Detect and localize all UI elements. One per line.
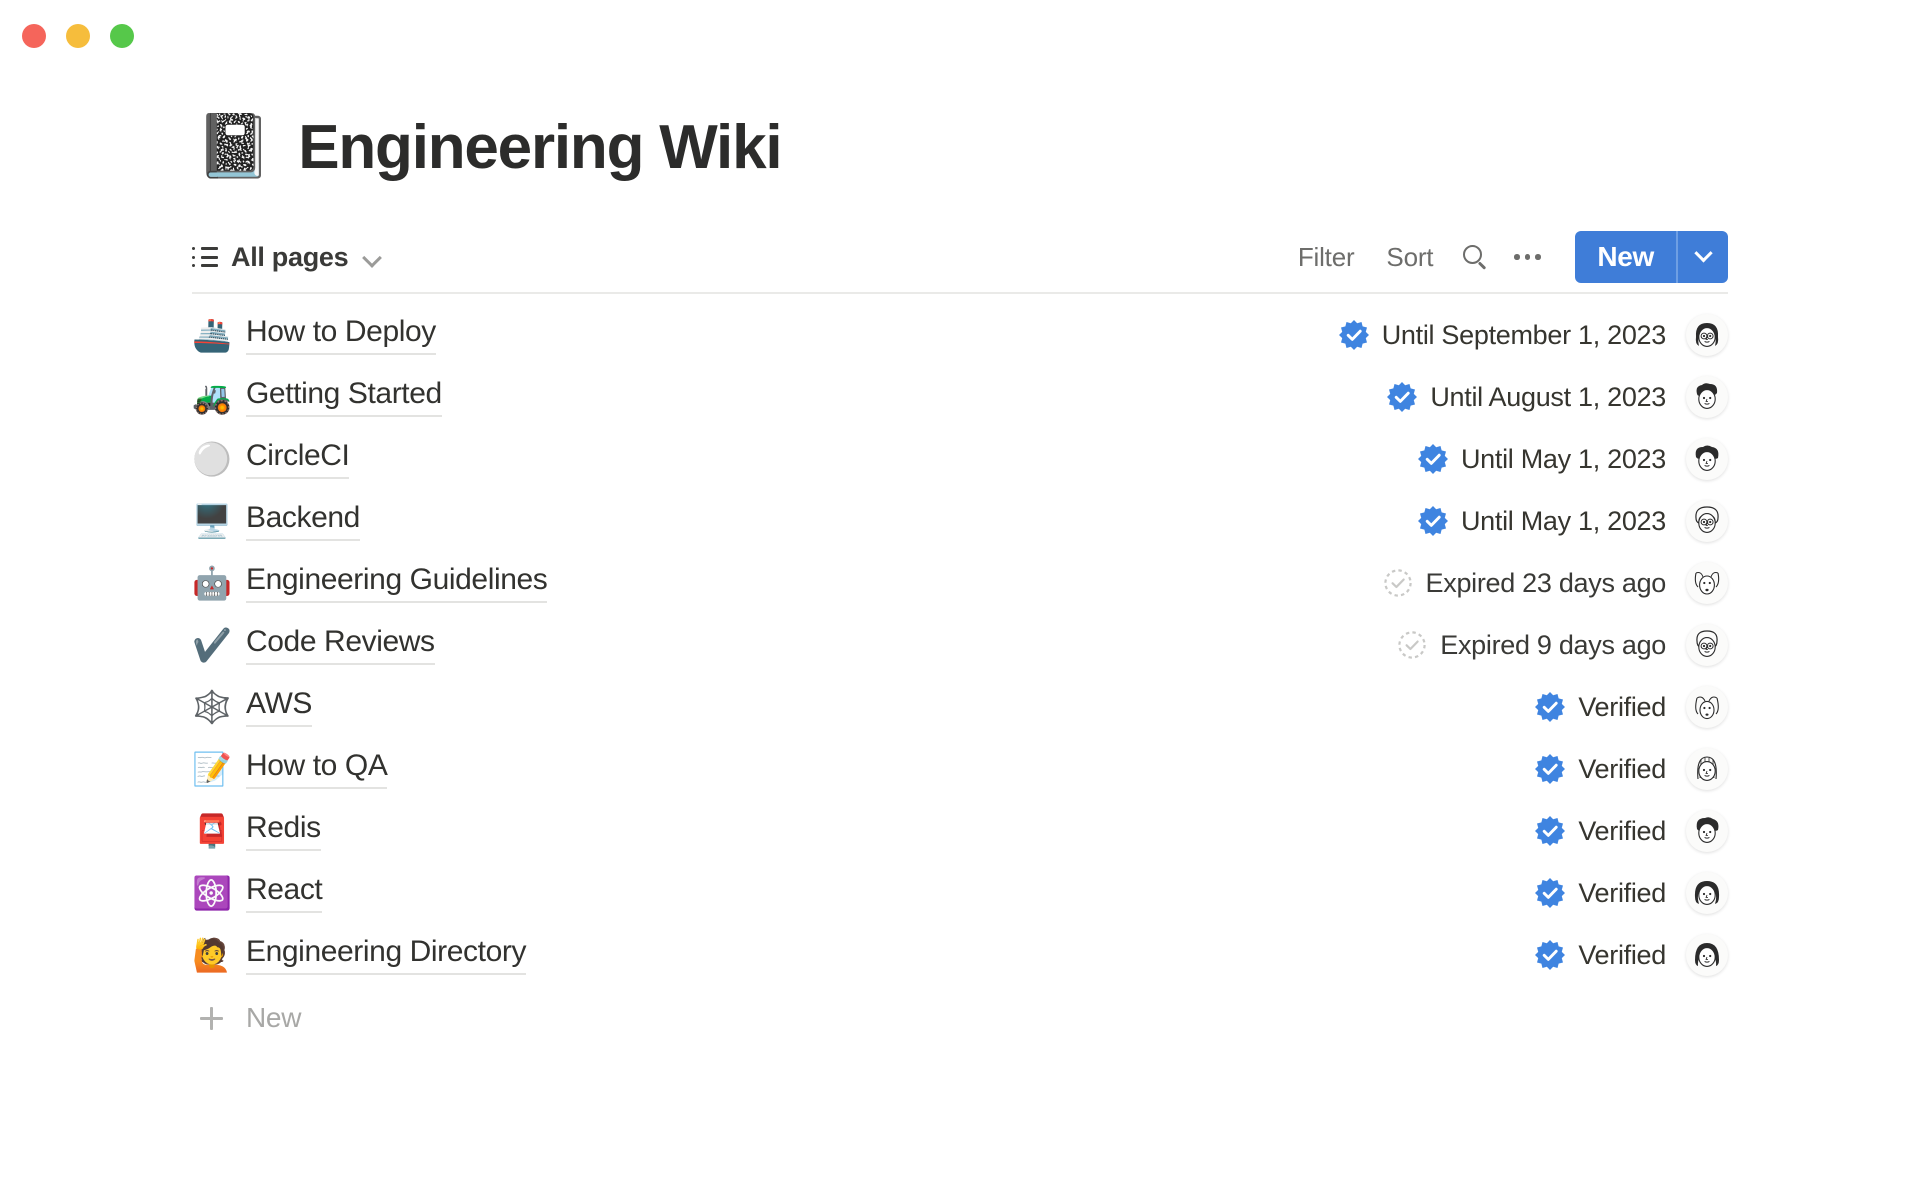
list-icon xyxy=(192,247,218,267)
table-row[interactable]: 🕸️AWSVerified xyxy=(192,676,1728,738)
row-main: 📮Redis xyxy=(192,811,1535,851)
row-meta: Verified xyxy=(1535,934,1728,976)
row-main: ⚛️React xyxy=(192,873,1535,913)
postbox-emoji[interactable]: 📮 xyxy=(192,815,230,847)
verified-badge-icon xyxy=(1339,320,1369,350)
add-new-page-row[interactable]: New xyxy=(192,986,1728,1044)
row-main: 🤖Engineering Guidelines xyxy=(192,563,1383,603)
row-meta: Until May 1, 2023 xyxy=(1418,438,1728,480)
expired-badge-icon xyxy=(1383,568,1413,598)
page-title: Engineering Wiki xyxy=(298,112,781,183)
verification-status[interactable]: Expired 23 days ago xyxy=(1383,568,1666,599)
raising-hand-emoji[interactable]: 🙋 xyxy=(192,939,230,971)
avatar[interactable] xyxy=(1686,810,1728,852)
new-dropdown-button[interactable] xyxy=(1676,231,1728,283)
app-window: 📓 Engineering Wiki All pages Filter Sort xyxy=(0,0,1920,1200)
row-main: 📝How to QA xyxy=(192,749,1535,789)
avatar[interactable] xyxy=(1686,872,1728,914)
page-link[interactable]: Engineering Directory xyxy=(246,935,526,975)
page-link[interactable]: React xyxy=(246,873,322,913)
row-meta: Until September 1, 2023 xyxy=(1339,314,1728,356)
verified-badge-icon xyxy=(1418,444,1448,474)
row-meta: Expired 23 days ago xyxy=(1383,562,1728,604)
maximize-button[interactable] xyxy=(110,24,134,48)
expired-badge-icon xyxy=(1397,630,1427,660)
chevron-down-icon xyxy=(364,249,381,266)
verification-status[interactable]: Expired 9 days ago xyxy=(1397,630,1666,661)
verification-status[interactable]: Until August 1, 2023 xyxy=(1387,382,1666,413)
verified-badge-icon xyxy=(1535,878,1565,908)
verification-status[interactable]: Verified xyxy=(1535,754,1666,785)
page-link[interactable]: Getting Started xyxy=(246,377,442,417)
page-link[interactable]: AWS xyxy=(246,687,312,727)
more-options-button[interactable] xyxy=(1501,235,1553,279)
status-label: Until August 1, 2023 xyxy=(1430,382,1666,413)
avatar[interactable] xyxy=(1686,376,1728,418)
table-row[interactable]: 📮RedisVerified xyxy=(192,800,1728,862)
table-row[interactable]: 📝How to QAVerified xyxy=(192,738,1728,800)
table-row[interactable]: 🖥️BackendUntil May 1, 2023 xyxy=(192,490,1728,552)
notebook-emoji[interactable]: 📓 xyxy=(195,116,272,178)
status-label: Until September 1, 2023 xyxy=(1382,320,1666,351)
row-meta: Until May 1, 2023 xyxy=(1418,500,1728,542)
new-button[interactable]: New xyxy=(1575,231,1676,283)
robot-emoji[interactable]: 🤖 xyxy=(192,567,230,599)
avatar[interactable] xyxy=(1686,624,1728,666)
database-toolbar: All pages Filter Sort New xyxy=(192,222,1728,294)
verification-status[interactable]: Until May 1, 2023 xyxy=(1418,506,1666,537)
row-meta: Verified xyxy=(1535,686,1728,728)
status-label: Expired 23 days ago xyxy=(1426,568,1666,599)
verification-status[interactable]: Verified xyxy=(1535,878,1666,909)
table-row[interactable]: 🤖Engineering GuidelinesExpired 23 days a… xyxy=(192,552,1728,614)
verification-status[interactable]: Verified xyxy=(1535,940,1666,971)
avatar[interactable] xyxy=(1686,562,1728,604)
add-new-page-label: New xyxy=(246,1002,301,1034)
page-link[interactable]: Engineering Guidelines xyxy=(246,563,547,603)
row-main: 🚜Getting Started xyxy=(192,377,1387,417)
sort-button[interactable]: Sort xyxy=(1370,242,1449,273)
verification-status[interactable]: Verified xyxy=(1535,692,1666,723)
row-main: ✔️Code Reviews xyxy=(192,625,1397,665)
close-button[interactable] xyxy=(22,24,46,48)
verification-status[interactable]: Until May 1, 2023 xyxy=(1418,444,1666,475)
row-meta: Expired 9 days ago xyxy=(1397,624,1728,666)
filter-button[interactable]: Filter xyxy=(1282,242,1371,273)
page-content: 📓 Engineering Wiki All pages Filter Sort xyxy=(0,72,1920,1044)
page-link[interactable]: Code Reviews xyxy=(246,625,435,665)
row-main: 🕸️AWS xyxy=(192,687,1535,727)
verified-badge-icon xyxy=(1387,382,1417,412)
search-icon xyxy=(1463,245,1487,269)
page-link[interactable]: Backend xyxy=(246,501,360,541)
row-main: 🖥️Backend xyxy=(192,501,1418,541)
row-main: ⚪CircleCI xyxy=(192,439,1418,479)
verified-badge-icon xyxy=(1535,754,1565,784)
status-label: Until May 1, 2023 xyxy=(1461,444,1666,475)
memo-emoji[interactable]: 📝 xyxy=(192,753,230,785)
status-label: Verified xyxy=(1578,878,1666,909)
page-link[interactable]: CircleCI xyxy=(246,439,349,479)
verified-badge-icon xyxy=(1535,940,1565,970)
spider-web-emoji[interactable]: 🕸️ xyxy=(192,691,230,723)
ship-emoji[interactable]: 🚢 xyxy=(192,319,230,351)
avatar[interactable] xyxy=(1686,500,1728,542)
status-label: Verified xyxy=(1578,692,1666,723)
table-row[interactable]: ⚛️ReactVerified xyxy=(192,862,1728,924)
verified-badge-icon xyxy=(1535,816,1565,846)
table-row[interactable]: 🙋Engineering DirectoryVerified xyxy=(192,924,1728,986)
page-link[interactable]: How to QA xyxy=(246,749,387,789)
view-selector-all-pages[interactable]: All pages xyxy=(192,242,381,273)
page-link[interactable]: Redis xyxy=(246,811,321,851)
avatar[interactable] xyxy=(1686,934,1728,976)
table-row[interactable]: ⚪CircleCIUntil May 1, 2023 xyxy=(192,428,1728,490)
ellipsis-icon xyxy=(1514,254,1541,260)
toolbar-actions: Filter Sort New xyxy=(1282,231,1728,283)
table-row[interactable]: 🚢How to DeployUntil September 1, 2023 xyxy=(192,304,1728,366)
chevron-down-icon xyxy=(1694,244,1712,262)
verified-badge-icon xyxy=(1418,506,1448,536)
window-titlebar xyxy=(0,0,1920,72)
avatar[interactable] xyxy=(1686,314,1728,356)
traffic-light-group xyxy=(22,24,134,48)
new-button-group: New xyxy=(1575,231,1728,283)
avatar[interactable] xyxy=(1686,438,1728,480)
search-button[interactable] xyxy=(1449,235,1501,279)
verification-status[interactable]: Verified xyxy=(1535,816,1666,847)
avatar[interactable] xyxy=(1686,686,1728,728)
avatar[interactable] xyxy=(1686,748,1728,790)
status-label: Until May 1, 2023 xyxy=(1461,506,1666,537)
row-meta: Verified xyxy=(1535,748,1728,790)
desktop-computer-emoji[interactable]: 🖥️ xyxy=(192,505,230,537)
atom-symbol-emoji[interactable]: ⚛️ xyxy=(192,877,230,909)
row-meta: Until August 1, 2023 xyxy=(1387,376,1728,418)
minimize-button[interactable] xyxy=(66,24,90,48)
white-circle-emoji[interactable]: ⚪ xyxy=(192,443,230,475)
row-meta: Verified xyxy=(1535,810,1728,852)
tractor-emoji[interactable]: 🚜 xyxy=(192,381,230,413)
status-label: Verified xyxy=(1578,816,1666,847)
status-label: Verified xyxy=(1578,940,1666,971)
page-link[interactable]: How to Deploy xyxy=(246,315,436,355)
row-meta: Verified xyxy=(1535,872,1728,914)
status-label: Verified xyxy=(1578,754,1666,785)
row-main: 🙋Engineering Directory xyxy=(192,935,1535,975)
plus-icon xyxy=(192,1003,230,1033)
row-main: 🚢How to Deploy xyxy=(192,315,1339,355)
page-list: 🚢How to DeployUntil September 1, 2023🚜Ge… xyxy=(192,294,1728,1044)
check-mark-emoji[interactable]: ✔️ xyxy=(192,629,230,661)
verification-status[interactable]: Until September 1, 2023 xyxy=(1339,320,1666,351)
status-label: Expired 9 days ago xyxy=(1440,630,1666,661)
page-header: 📓 Engineering Wiki xyxy=(0,72,1920,222)
view-selector-label: All pages xyxy=(231,242,348,273)
table-row[interactable]: ✔️Code ReviewsExpired 9 days ago xyxy=(192,614,1728,676)
table-row[interactable]: 🚜Getting StartedUntil August 1, 2023 xyxy=(192,366,1728,428)
verified-badge-icon xyxy=(1535,692,1565,722)
